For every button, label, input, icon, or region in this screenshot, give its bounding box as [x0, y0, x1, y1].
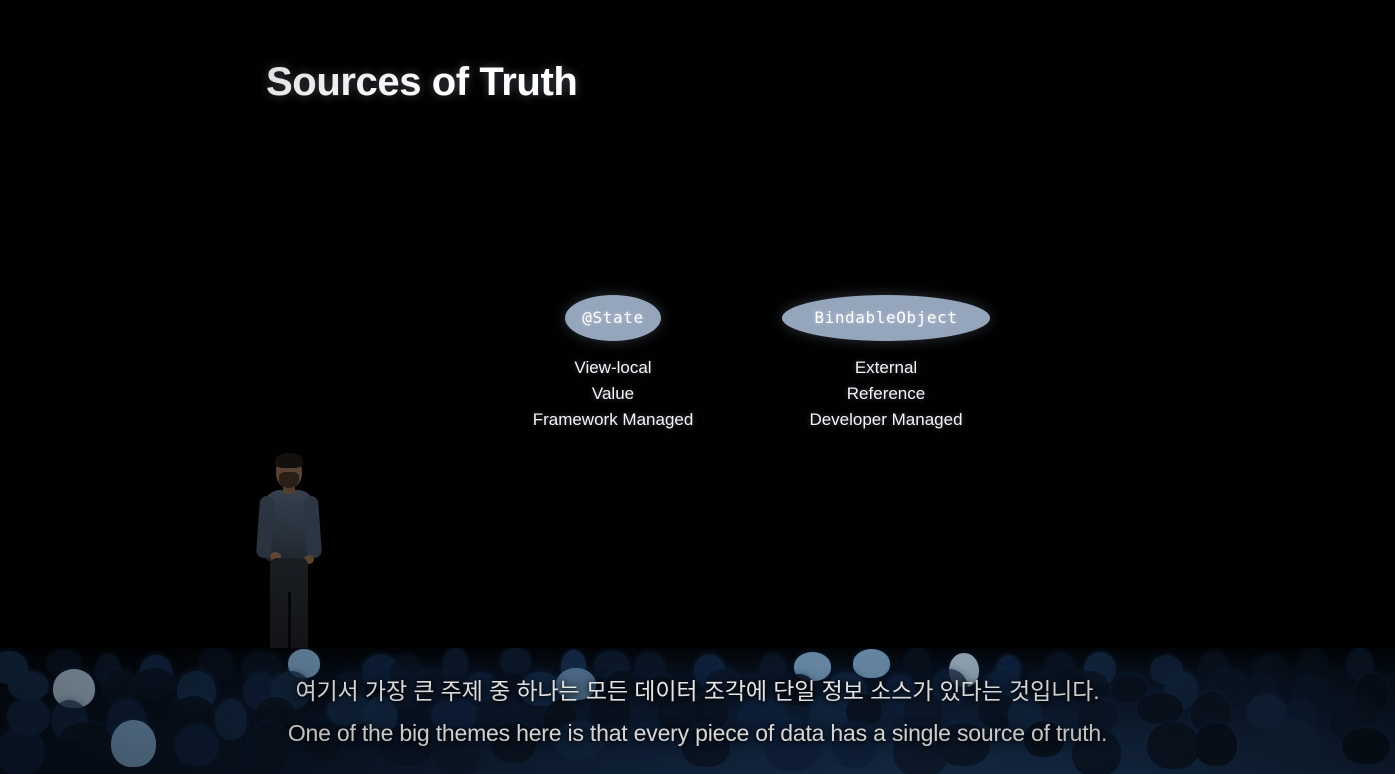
presenter-leg-gap	[288, 592, 291, 654]
audience-head	[500, 648, 531, 674]
state-attribute-item: View-local	[463, 355, 763, 381]
state-pill: @State	[565, 295, 661, 341]
presenter-hair	[275, 453, 303, 468]
concept-column-state: @State View-local Value Framework Manage…	[463, 295, 763, 432]
audience-head	[905, 649, 930, 674]
subtitle-english: One of the big themes here is that every…	[0, 720, 1395, 747]
concept-column-bindableobject: BindableObject External Reference Develo…	[736, 295, 1036, 432]
presenter-figure	[248, 452, 330, 670]
presentation-video-frame: Sources of Truth @State View-local Value…	[0, 0, 1395, 774]
bindableobject-attribute-list: External Reference Developer Managed	[736, 355, 1036, 432]
slide-title: Sources of Truth	[266, 60, 577, 105]
audience-crowd	[0, 648, 1395, 774]
bindableobject-attribute-item: Reference	[736, 381, 1036, 407]
state-attribute-item: Framework Managed	[463, 407, 763, 433]
state-attribute-item: Value	[463, 381, 763, 407]
presenter-beard	[279, 472, 299, 488]
bindableobject-attribute-item: External	[736, 355, 1036, 381]
presenter-right-arm	[303, 496, 322, 559]
subtitle-korean: 여기서 가장 큰 주제 중 하나는 모든 데이터 조각에 단일 정보 소스가 있…	[0, 672, 1395, 706]
bindableobject-attribute-item: Developer Managed	[736, 407, 1036, 433]
state-attribute-list: View-local Value Framework Managed	[463, 355, 763, 432]
bindableobject-pill: BindableObject	[782, 295, 990, 341]
